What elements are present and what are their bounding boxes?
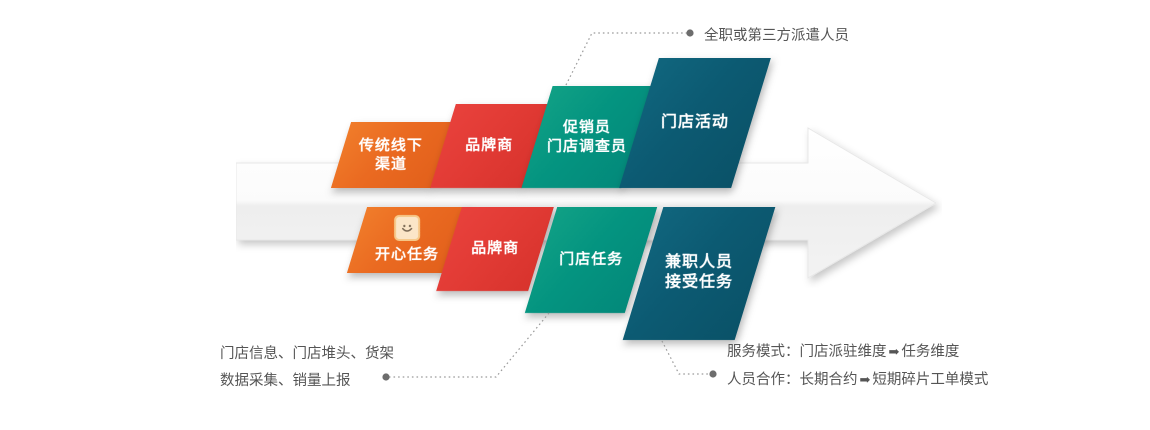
annotation-label: 服务模式： xyxy=(727,344,800,360)
annotation-from: 门店派驻维度 xyxy=(800,344,887,360)
step-label-line: 品牌商 xyxy=(471,239,519,258)
step-label-line: 开心任务 xyxy=(375,245,439,264)
annotation-line: 全职或第三方派遣人员 xyxy=(704,23,849,50)
connector-bottom-right xyxy=(662,341,710,374)
annotation-store-data: 门店信息、门店堆头、货架 数据采集、销量上报 xyxy=(220,341,394,395)
step-label-line: 接受任务 xyxy=(665,274,733,294)
step-label-line: 门店任务 xyxy=(559,250,623,269)
connector-dot-bottom-right xyxy=(709,370,716,377)
annotation-row: 服务模式：门店派驻维度➡任务维度 xyxy=(727,338,988,366)
step-label-line: 门店调查员 xyxy=(547,137,627,156)
connector-dot-top xyxy=(686,29,693,36)
annotation-from: 长期合约 xyxy=(800,372,858,388)
step-label-line: 渠道 xyxy=(375,155,407,174)
annotation-to: 任务维度 xyxy=(901,344,959,360)
connector-bottom-left xyxy=(389,313,549,377)
right-arrow-icon: ➡ xyxy=(858,372,873,387)
step-label-line: 传统线下 xyxy=(359,136,423,155)
annotation-to: 短期碎片工单模式 xyxy=(872,372,988,388)
smiley-face-icon xyxy=(394,215,420,241)
step-label-line: 品牌商 xyxy=(465,136,513,155)
step-top-store-activity[interactable]: 门店活动 xyxy=(619,58,771,188)
annotation-staffing: 全职或第三方派遣人员 xyxy=(704,23,849,50)
step-label-line: 兼职人员 xyxy=(665,253,733,273)
diagram-canvas: 传统线下 渠道 品牌商 促销员 门店调查员 门店活动 开 xyxy=(0,0,1150,430)
annotation-label: 人员合作： xyxy=(727,372,800,388)
annotation-line: 门店信息、门店堆头、货架 xyxy=(220,341,394,368)
step-label-line: 门店活动 xyxy=(661,113,729,133)
annotation-row: 人员合作：长期合约➡短期碎片工单模式 xyxy=(727,366,988,394)
right-arrow-icon: ➡ xyxy=(887,344,902,359)
annotation-line: 数据采集、销量上报 xyxy=(220,368,394,395)
step-label-line: 促销员 xyxy=(563,118,611,137)
annotation-service-model: 服务模式：门店派驻维度➡任务维度 人员合作：长期合约➡短期碎片工单模式 xyxy=(727,338,988,394)
